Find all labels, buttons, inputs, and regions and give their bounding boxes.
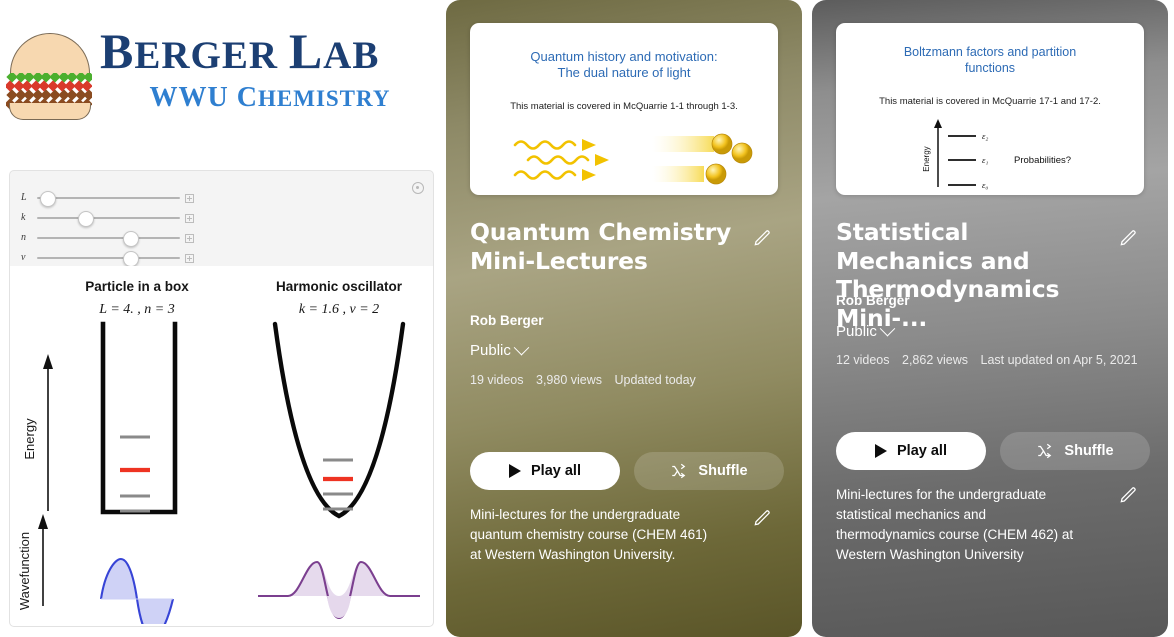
pib-wavefunction [101, 559, 173, 624]
playlist-thumbnail-statmech[interactable]: Boltzmann factors and partition function… [836, 23, 1144, 195]
pencil-icon-edit-description[interactable] [752, 508, 772, 528]
quantum-plot-card: Particle in a box L = 4. , n = 3 Harmoni… [9, 266, 434, 627]
playlist-owner[interactable]: Rob Berger [470, 313, 544, 328]
playlist-card-statistical-mechanics[interactable]: Boltzmann factors and partition function… [812, 0, 1168, 637]
bun-bottom [9, 103, 91, 120]
playlist-title: Quantum Chemistry Mini-Lectures [470, 218, 740, 275]
pencil-icon-edit-title[interactable] [1118, 228, 1138, 248]
view-count: 2,862 views [902, 353, 968, 367]
berger-lab-panel: BERGER LAB WWU CHEMISTRY L k n [0, 0, 441, 637]
slider-label-L: L [21, 191, 35, 205]
energy-level-diagram-graphic: Energy ε₂ ε₁ ε₀ Probabilities? [836, 115, 1144, 195]
plus-box-icon-v[interactable] [185, 254, 194, 263]
video-count: 19 videos [470, 373, 524, 387]
shuffle-icon [1036, 442, 1054, 460]
slider-label-v: v [21, 251, 35, 265]
play-all-label: Play all [897, 443, 947, 459]
diagram-axis-label: Energy [922, 146, 931, 171]
burger-lattice-logo-icon [6, 33, 92, 115]
slider-track-k[interactable] [37, 217, 180, 219]
ho-title: Harmonic oscillator [276, 279, 403, 294]
diagram-annotation: Probabilities? [1014, 155, 1071, 166]
harmonic-potential [275, 324, 403, 516]
logo-title: BERGER LAB [100, 26, 440, 76]
video-count: 12 videos [836, 353, 890, 367]
playlist-privacy-dropdown[interactable]: Public [836, 323, 893, 340]
diagram-level-1: ε₁ [982, 155, 988, 165]
privacy-label: Public [470, 342, 511, 359]
playlist-card-quantum-chemistry[interactable]: Quantum history and motivation: The dual… [446, 0, 802, 637]
shuffle-button[interactable]: Shuffle [1000, 432, 1150, 470]
view-count: 3,980 views [536, 373, 602, 387]
slider-track-n[interactable] [37, 237, 180, 239]
bun-top [10, 33, 90, 78]
thumbnail-subtitle: This material is covered in McQuarrie 17… [836, 96, 1144, 107]
slider-track-v[interactable] [37, 257, 180, 259]
playlist-stats: 19 videos 3,980 views Updated today [470, 373, 705, 387]
energy-axis-label: Energy [22, 418, 37, 460]
quantum-plot-svg: Particle in a box L = 4. , n = 3 Harmoni… [10, 266, 433, 624]
plus-box-icon-L[interactable] [185, 194, 194, 203]
thumbnail-subtitle: This material is covered in McQuarrie 1-… [470, 101, 778, 112]
plus-box-icon-n[interactable] [185, 234, 194, 243]
light-waves-and-photons-graphic [470, 123, 778, 193]
slider-row-k[interactable]: k [21, 211, 421, 225]
slider-row-v[interactable]: v [21, 251, 421, 265]
play-all-label: Play all [531, 463, 581, 479]
slider-row-n[interactable]: n [21, 231, 421, 245]
play-icon [509, 464, 521, 478]
wavefunction-axis-label: Wavefunction [17, 532, 32, 610]
thumbnail-title: Boltzmann factors and partition function… [836, 45, 1144, 76]
playlist-thumbnail-quantum[interactable]: Quantum history and motivation: The dual… [470, 23, 778, 195]
slider-thumb-n[interactable] [123, 231, 139, 247]
energy-axis: Energy [22, 354, 53, 511]
screenshot-root: BERGER LAB WWU CHEMISTRY L k n [0, 0, 1174, 637]
logo-subtitle: WWU CHEMISTRY [100, 84, 440, 112]
wavefunction-axis: Wavefunction [17, 514, 48, 610]
privacy-label: Public [836, 323, 877, 340]
play-icon [875, 444, 887, 458]
pencil-icon-edit-title[interactable] [752, 228, 772, 248]
slider-thumb-v[interactable] [123, 251, 139, 267]
playlist-title: Statistical Mechanics and Thermodynamics… [836, 218, 1086, 333]
pib-params: L = 4. , n = 3 [98, 302, 174, 317]
updated-label: Last updated on Apr 5, 2021 [981, 353, 1138, 367]
playlist-description: Mini-lectures for the undergraduate stat… [836, 485, 1086, 565]
shuffle-icon [670, 462, 688, 480]
ho-wavefunction [258, 562, 420, 618]
playlist-owner[interactable]: Rob Berger [836, 293, 910, 308]
chevron-down-icon [514, 340, 530, 356]
playlist-action-buttons: Play all Shuffle [836, 432, 1150, 470]
thumbnail-title: Quantum history and motivation: The dual… [470, 49, 778, 82]
diagram-level-2: ε₂ [982, 131, 988, 141]
slider-thumb-L[interactable] [40, 191, 56, 207]
play-all-button[interactable]: Play all [836, 432, 986, 470]
slider-label-k: k [21, 211, 35, 225]
shuffle-label: Shuffle [698, 463, 747, 479]
slider-row-L[interactable]: L [21, 191, 421, 205]
playlist-action-buttons: Play all Shuffle [470, 452, 784, 490]
playlist-stats: 12 videos 2,862 views Last updated on Ap… [836, 353, 1147, 367]
play-all-button[interactable]: Play all [470, 452, 620, 490]
shuffle-button[interactable]: Shuffle [634, 452, 784, 490]
chevron-down-icon [880, 321, 896, 337]
infinite-square-well [103, 324, 175, 512]
playlist-description: Mini-lectures for the undergraduate quan… [470, 505, 715, 565]
slider-label-n: n [21, 231, 35, 245]
shuffle-label: Shuffle [1064, 443, 1113, 459]
pencil-icon-edit-description[interactable] [1118, 485, 1138, 505]
slider-track-L[interactable] [37, 197, 180, 199]
pib-title: Particle in a box [85, 279, 189, 294]
diagram-level-0: ε₀ [982, 180, 988, 190]
slider-thumb-k[interactable] [78, 211, 94, 227]
berger-lab-logo: BERGER LAB WWU CHEMISTRY [0, 22, 441, 122]
plus-box-icon-k[interactable] [185, 214, 194, 223]
ho-params: k = 1.6 , v = 2 [299, 302, 379, 317]
controls-card: L k n v [9, 170, 434, 268]
updated-label: Updated today [615, 373, 696, 387]
playlist-privacy-dropdown[interactable]: Public [470, 342, 527, 359]
